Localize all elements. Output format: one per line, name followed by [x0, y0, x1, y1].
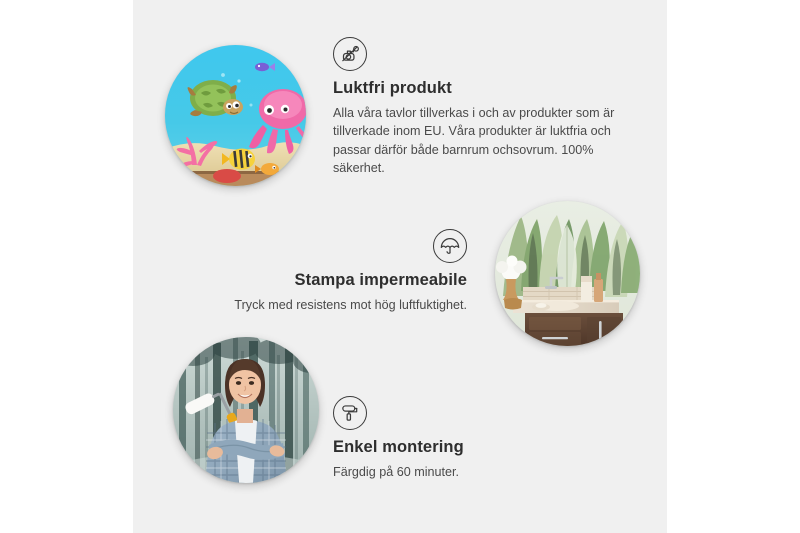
- feature-body: Färgdig på 60 minuter.: [333, 463, 623, 482]
- feature-block-luktfri-produkt: Luktfri produkt Alla våra tavlor tillver…: [333, 37, 625, 178]
- page-canvas: Luktfri produkt Alla våra tavlor tillver…: [0, 0, 800, 533]
- feature-body: Tryck med resistens mot hög luftfuktighe…: [186, 296, 467, 315]
- underwater-cartoon-scene-photo: [165, 45, 306, 186]
- feature-block-stampa-impermeabile: Stampa impermeabile Tryck med resistens …: [186, 229, 467, 314]
- umbrella-icon: [433, 229, 467, 263]
- bathroom-tropical-wallpaper-photo: [495, 201, 640, 346]
- paint-roller-icon: [333, 396, 367, 430]
- feature-title: Stampa impermeabile: [186, 270, 467, 291]
- feature-block-enkel-montering: Enkel montering Färgdig på 60 minuter.: [333, 396, 623, 481]
- feature-title: Luktfri produkt: [333, 78, 625, 99]
- no-odour-spray-bottle-icon: [333, 37, 367, 71]
- woman-paint-roller-forest-photo: [173, 337, 319, 483]
- feature-title: Enkel montering: [333, 437, 623, 458]
- feature-body: Alla våra tavlor tillverkas i och av pro…: [333, 104, 625, 178]
